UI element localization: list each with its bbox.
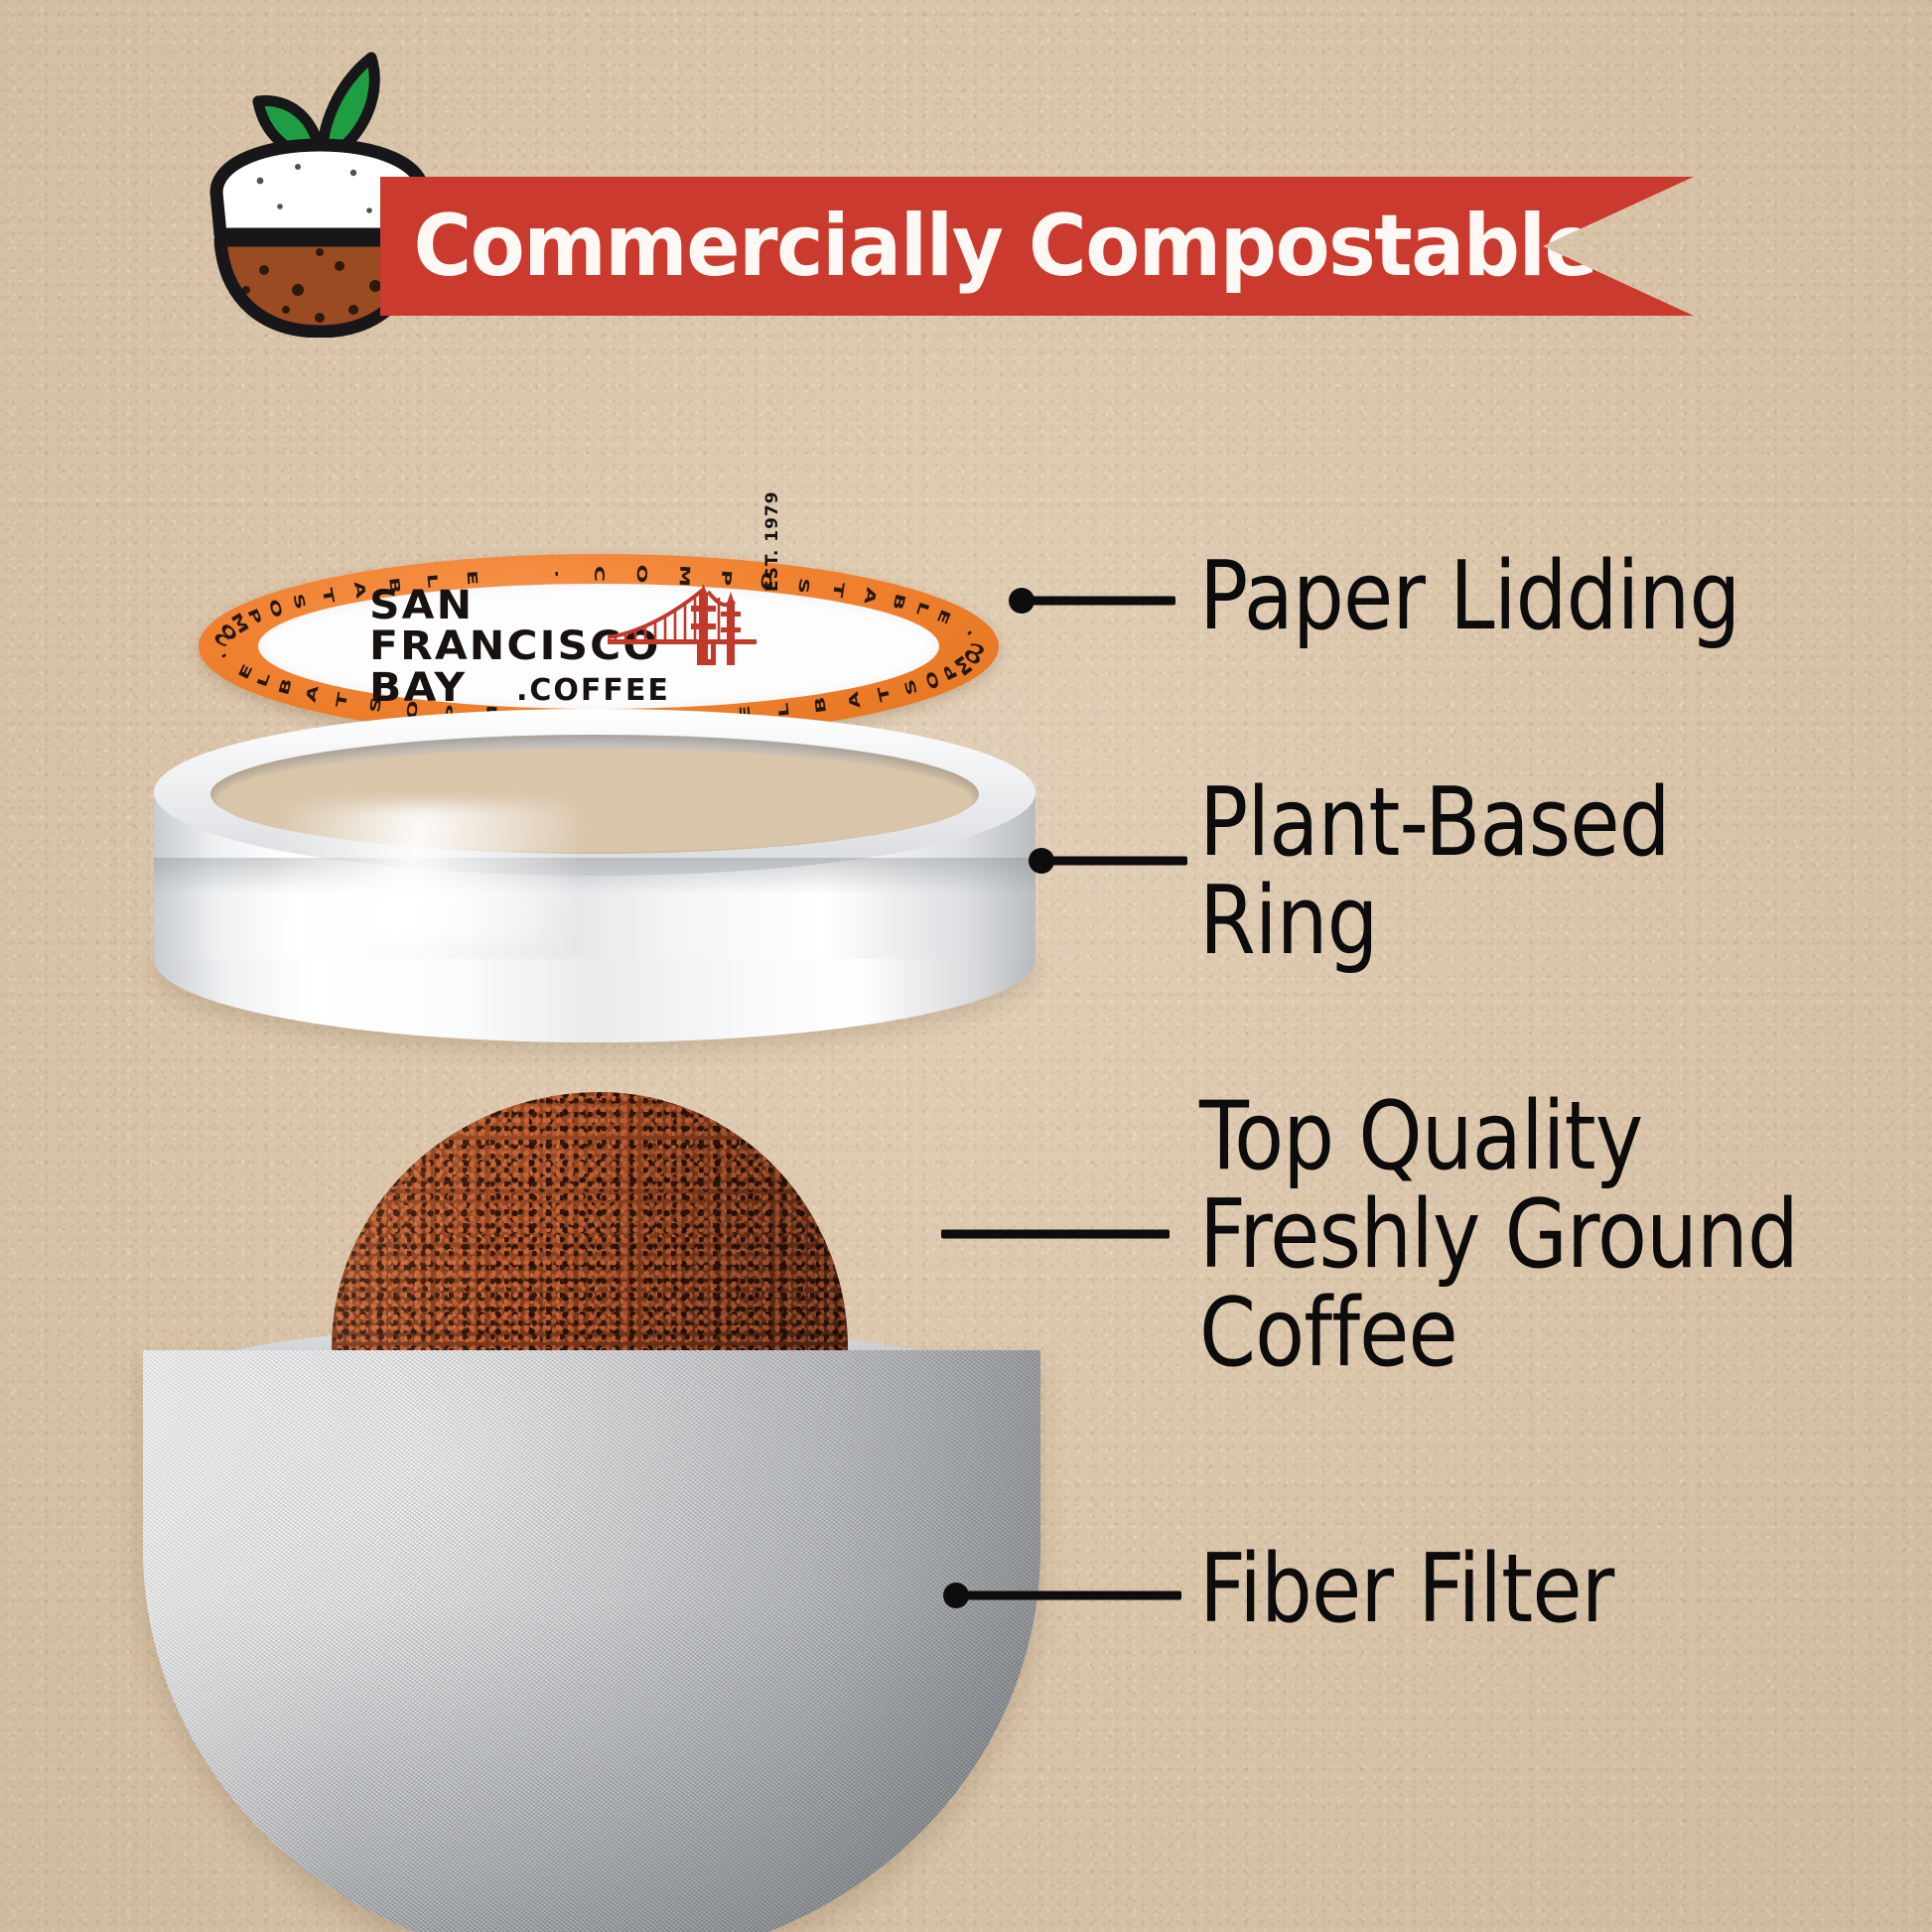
lid-rim-char: L — [913, 600, 932, 618]
fiber-filter-assembly — [143, 1092, 1040, 1757]
lid-rim-char: C — [591, 566, 607, 582]
leader-stroke — [941, 1229, 1170, 1238]
leader-line-ground-coffee — [941, 1229, 1170, 1238]
coffee-grounds-mound — [332, 1092, 848, 1390]
lid-rim-char: T — [334, 691, 351, 708]
leader-line-fiber-filter — [943, 1590, 1181, 1599]
leader-line-plant-based-ring — [1029, 856, 1187, 865]
ring-highlight — [277, 804, 577, 943]
callout-paper-lidding: Paper Lidding — [1199, 548, 1739, 646]
lid-rim-char: L — [254, 671, 273, 689]
lid-rim-char: A — [304, 684, 323, 704]
lid-rim-char: T — [319, 587, 337, 605]
callout-ground-coffee: Top Quality Freshly Ground Coffee — [1199, 1088, 1798, 1382]
lid-rim-char: B — [277, 677, 296, 697]
lid-rim-char: · — [216, 648, 232, 665]
logo-established-year: EST. 1979 — [762, 490, 782, 592]
san-francisco-bay-coffee-logo: SAN FRANCISCO BAY .COFFEE EST. 1979 — [365, 586, 832, 707]
lid-rim-char: O — [922, 669, 943, 692]
lid-rim-char: T — [876, 685, 894, 703]
lid-rim-char: O — [265, 598, 285, 621]
plant-based-ring — [154, 709, 1035, 1042]
leader-stroke — [956, 1590, 1181, 1599]
lid-rim-char: · — [961, 623, 978, 640]
leader-stroke — [1041, 856, 1187, 865]
callout-fiber-filter: Fiber Filter — [1199, 1541, 1613, 1639]
fiber-filter-bowl — [143, 1350, 1040, 1932]
fiber-filter-shading — [143, 1350, 1040, 1932]
lid-rim-char: E — [236, 662, 257, 682]
lid-rim-char: S — [901, 677, 920, 696]
lid-rim-char: E — [933, 607, 953, 626]
leader-line-paper-lidding — [1009, 596, 1175, 605]
infographic-canvas: Commercially Compostable COMPOSTABLE · C… — [0, 0, 1932, 1932]
callout-plant-based-ring: Plant-Based Ring — [1199, 774, 1670, 971]
golden-gate-bridge-icon — [608, 580, 757, 679]
lid-rim-char: A — [861, 586, 880, 606]
coffee-grounds-shading — [332, 1092, 848, 1390]
lid-rim-char: B — [889, 592, 907, 612]
compostable-banner: Commercially Compostable — [380, 177, 1694, 316]
logo-line-san: SAN — [369, 586, 474, 625]
banner-title: Commercially Compostable — [380, 177, 1433, 316]
logo-line-bay: BAY — [369, 668, 467, 708]
lid-rim-char: S — [290, 593, 309, 612]
lid-rim-char: · — [548, 570, 564, 579]
lid-rim-char: A — [846, 690, 864, 709]
leader-stroke — [1022, 596, 1175, 605]
